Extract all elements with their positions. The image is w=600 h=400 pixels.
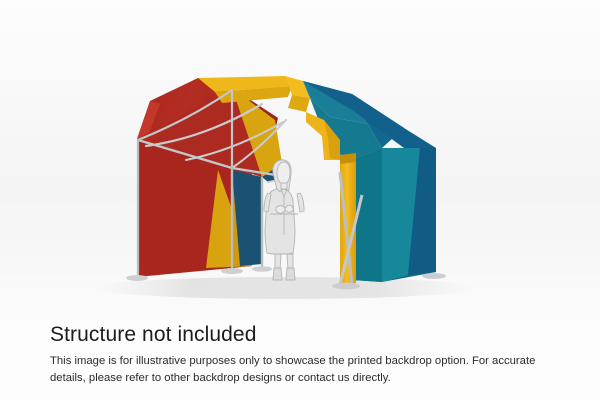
- figure-face: [277, 162, 290, 184]
- figure-hand-left: [276, 206, 285, 214]
- ground-shadow: [95, 277, 475, 299]
- figure-hand-right: [285, 205, 293, 212]
- background-plate: [0, 0, 600, 320]
- product-illustration: [0, 0, 600, 320]
- caption-body: This image is for illustrative purposes …: [50, 353, 550, 386]
- caption-block: Structure not included This image is for…: [50, 322, 570, 386]
- foot-center: [221, 268, 243, 274]
- screenshot-root: Structure not included This image is for…: [0, 0, 600, 400]
- caption-heading: Structure not included: [50, 322, 570, 348]
- foot-right-front: [332, 283, 360, 290]
- right-leg-yellow: [340, 156, 356, 285]
- figure-neck: [281, 183, 287, 189]
- archway-tent-render: [0, 0, 600, 320]
- figure-boot-right: [286, 268, 295, 280]
- foot-mid-right: [252, 266, 272, 272]
- foot-right-back: [422, 273, 446, 279]
- foot-left: [126, 275, 148, 281]
- figure-boot-left: [273, 268, 282, 280]
